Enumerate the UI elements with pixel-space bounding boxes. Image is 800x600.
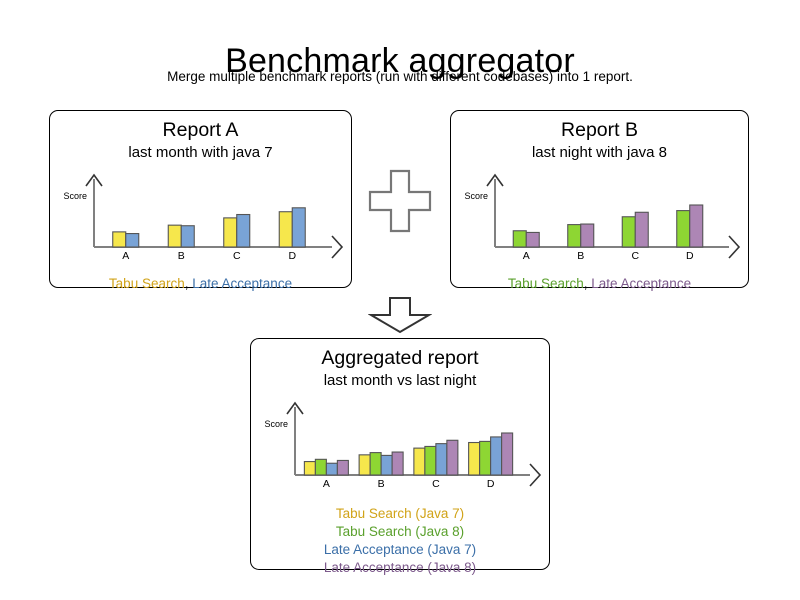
- report-a-chart-svg: ScoreABCD: [50, 171, 350, 269]
- bar: [491, 437, 502, 475]
- bar: [304, 462, 315, 475]
- bar: [126, 234, 139, 247]
- legend-item: Late Acceptance (Java 7): [251, 541, 549, 559]
- x-axis-tick-label: C: [432, 478, 440, 490]
- aggregated-report-subtitle: last month vs last night: [251, 371, 549, 391]
- bar: [480, 441, 491, 475]
- report-a-legend: Tabu Search, Late Acceptance: [50, 275, 351, 293]
- bar: [414, 448, 425, 475]
- bar: [315, 459, 326, 475]
- report-b-chart: ScoreABCD: [451, 171, 748, 269]
- report-b-legend: Tabu Search, Late Acceptance: [451, 275, 748, 293]
- x-axis-tick-label: A: [323, 478, 330, 490]
- aggregated-report-chart-svg: ScoreABCD: [251, 399, 548, 497]
- bar: [392, 452, 403, 475]
- legend-item: Tabu Search: [508, 276, 584, 291]
- bar: [326, 463, 337, 475]
- bar: [622, 217, 635, 247]
- x-axis-tick-label: D: [686, 250, 694, 262]
- bar: [181, 226, 194, 247]
- x-axis-tick-label: B: [178, 250, 185, 262]
- bar: [526, 232, 539, 247]
- bar: [359, 455, 370, 475]
- legend-item: Late Acceptance (Java 8): [251, 559, 549, 577]
- report-b-panel: Report B last night with java 8 ScoreABC…: [450, 110, 749, 288]
- x-axis-tick-label: B: [378, 478, 385, 490]
- legend-item: Late Acceptance: [591, 276, 691, 291]
- bar: [370, 453, 381, 475]
- report-a-title: Report A: [50, 118, 351, 143]
- report-b-chart-svg: ScoreABCD: [451, 171, 747, 269]
- bar: [513, 231, 526, 247]
- bar: [690, 205, 703, 247]
- legend-item: Tabu Search (Java 8): [251, 523, 549, 541]
- bar: [279, 212, 292, 247]
- bar: [381, 455, 392, 475]
- bar: [447, 440, 458, 475]
- aggregated-report-panel: Aggregated report last month vs last nig…: [250, 338, 550, 570]
- bar: [425, 446, 436, 475]
- report-b-title: Report B: [451, 118, 748, 143]
- down-arrow-icon: [368, 296, 432, 339]
- bar: [635, 212, 648, 247]
- bar: [469, 443, 480, 475]
- bar: [568, 225, 581, 247]
- aggregated-report-title: Aggregated report: [251, 346, 549, 371]
- bar: [502, 433, 513, 475]
- legend-item: Late Acceptance: [192, 276, 292, 291]
- aggregated-report-chart: ScoreABCD: [251, 399, 549, 497]
- aggregated-report-legend: Tabu Search (Java 7)Tabu Search (Java 8)…: [251, 505, 549, 577]
- bar: [113, 232, 126, 247]
- bar: [677, 211, 690, 247]
- legend-item: Tabu Search (Java 7): [251, 505, 549, 523]
- page-subtitle: Merge multiple benchmark reports (run wi…: [0, 68, 800, 86]
- report-a-subtitle: last month with java 7: [50, 143, 351, 163]
- bar: [237, 215, 250, 247]
- x-axis-tick-label: D: [288, 250, 296, 262]
- bar: [581, 224, 594, 247]
- x-axis-tick-label: C: [233, 250, 241, 262]
- bar: [224, 218, 237, 247]
- x-axis-tick-label: D: [487, 478, 495, 490]
- bar: [337, 460, 348, 475]
- bar: [168, 225, 181, 247]
- report-a-panel: Report A last month with java 7 ScoreABC…: [49, 110, 352, 288]
- x-axis-tick-label: A: [122, 250, 129, 262]
- bar: [436, 444, 447, 475]
- x-axis-tick-label: B: [577, 250, 584, 262]
- bar: [292, 208, 305, 247]
- plus-sign-icon: [367, 168, 433, 239]
- legend-item: Tabu Search: [109, 276, 185, 291]
- y-axis-label: Score: [464, 191, 488, 201]
- x-axis-tick-label: C: [631, 250, 639, 262]
- x-axis-tick-label: A: [523, 250, 530, 262]
- y-axis-label: Score: [264, 419, 288, 429]
- report-a-chart: ScoreABCD: [50, 171, 351, 269]
- y-axis-label: Score: [63, 191, 87, 201]
- report-b-subtitle: last night with java 8: [451, 143, 748, 163]
